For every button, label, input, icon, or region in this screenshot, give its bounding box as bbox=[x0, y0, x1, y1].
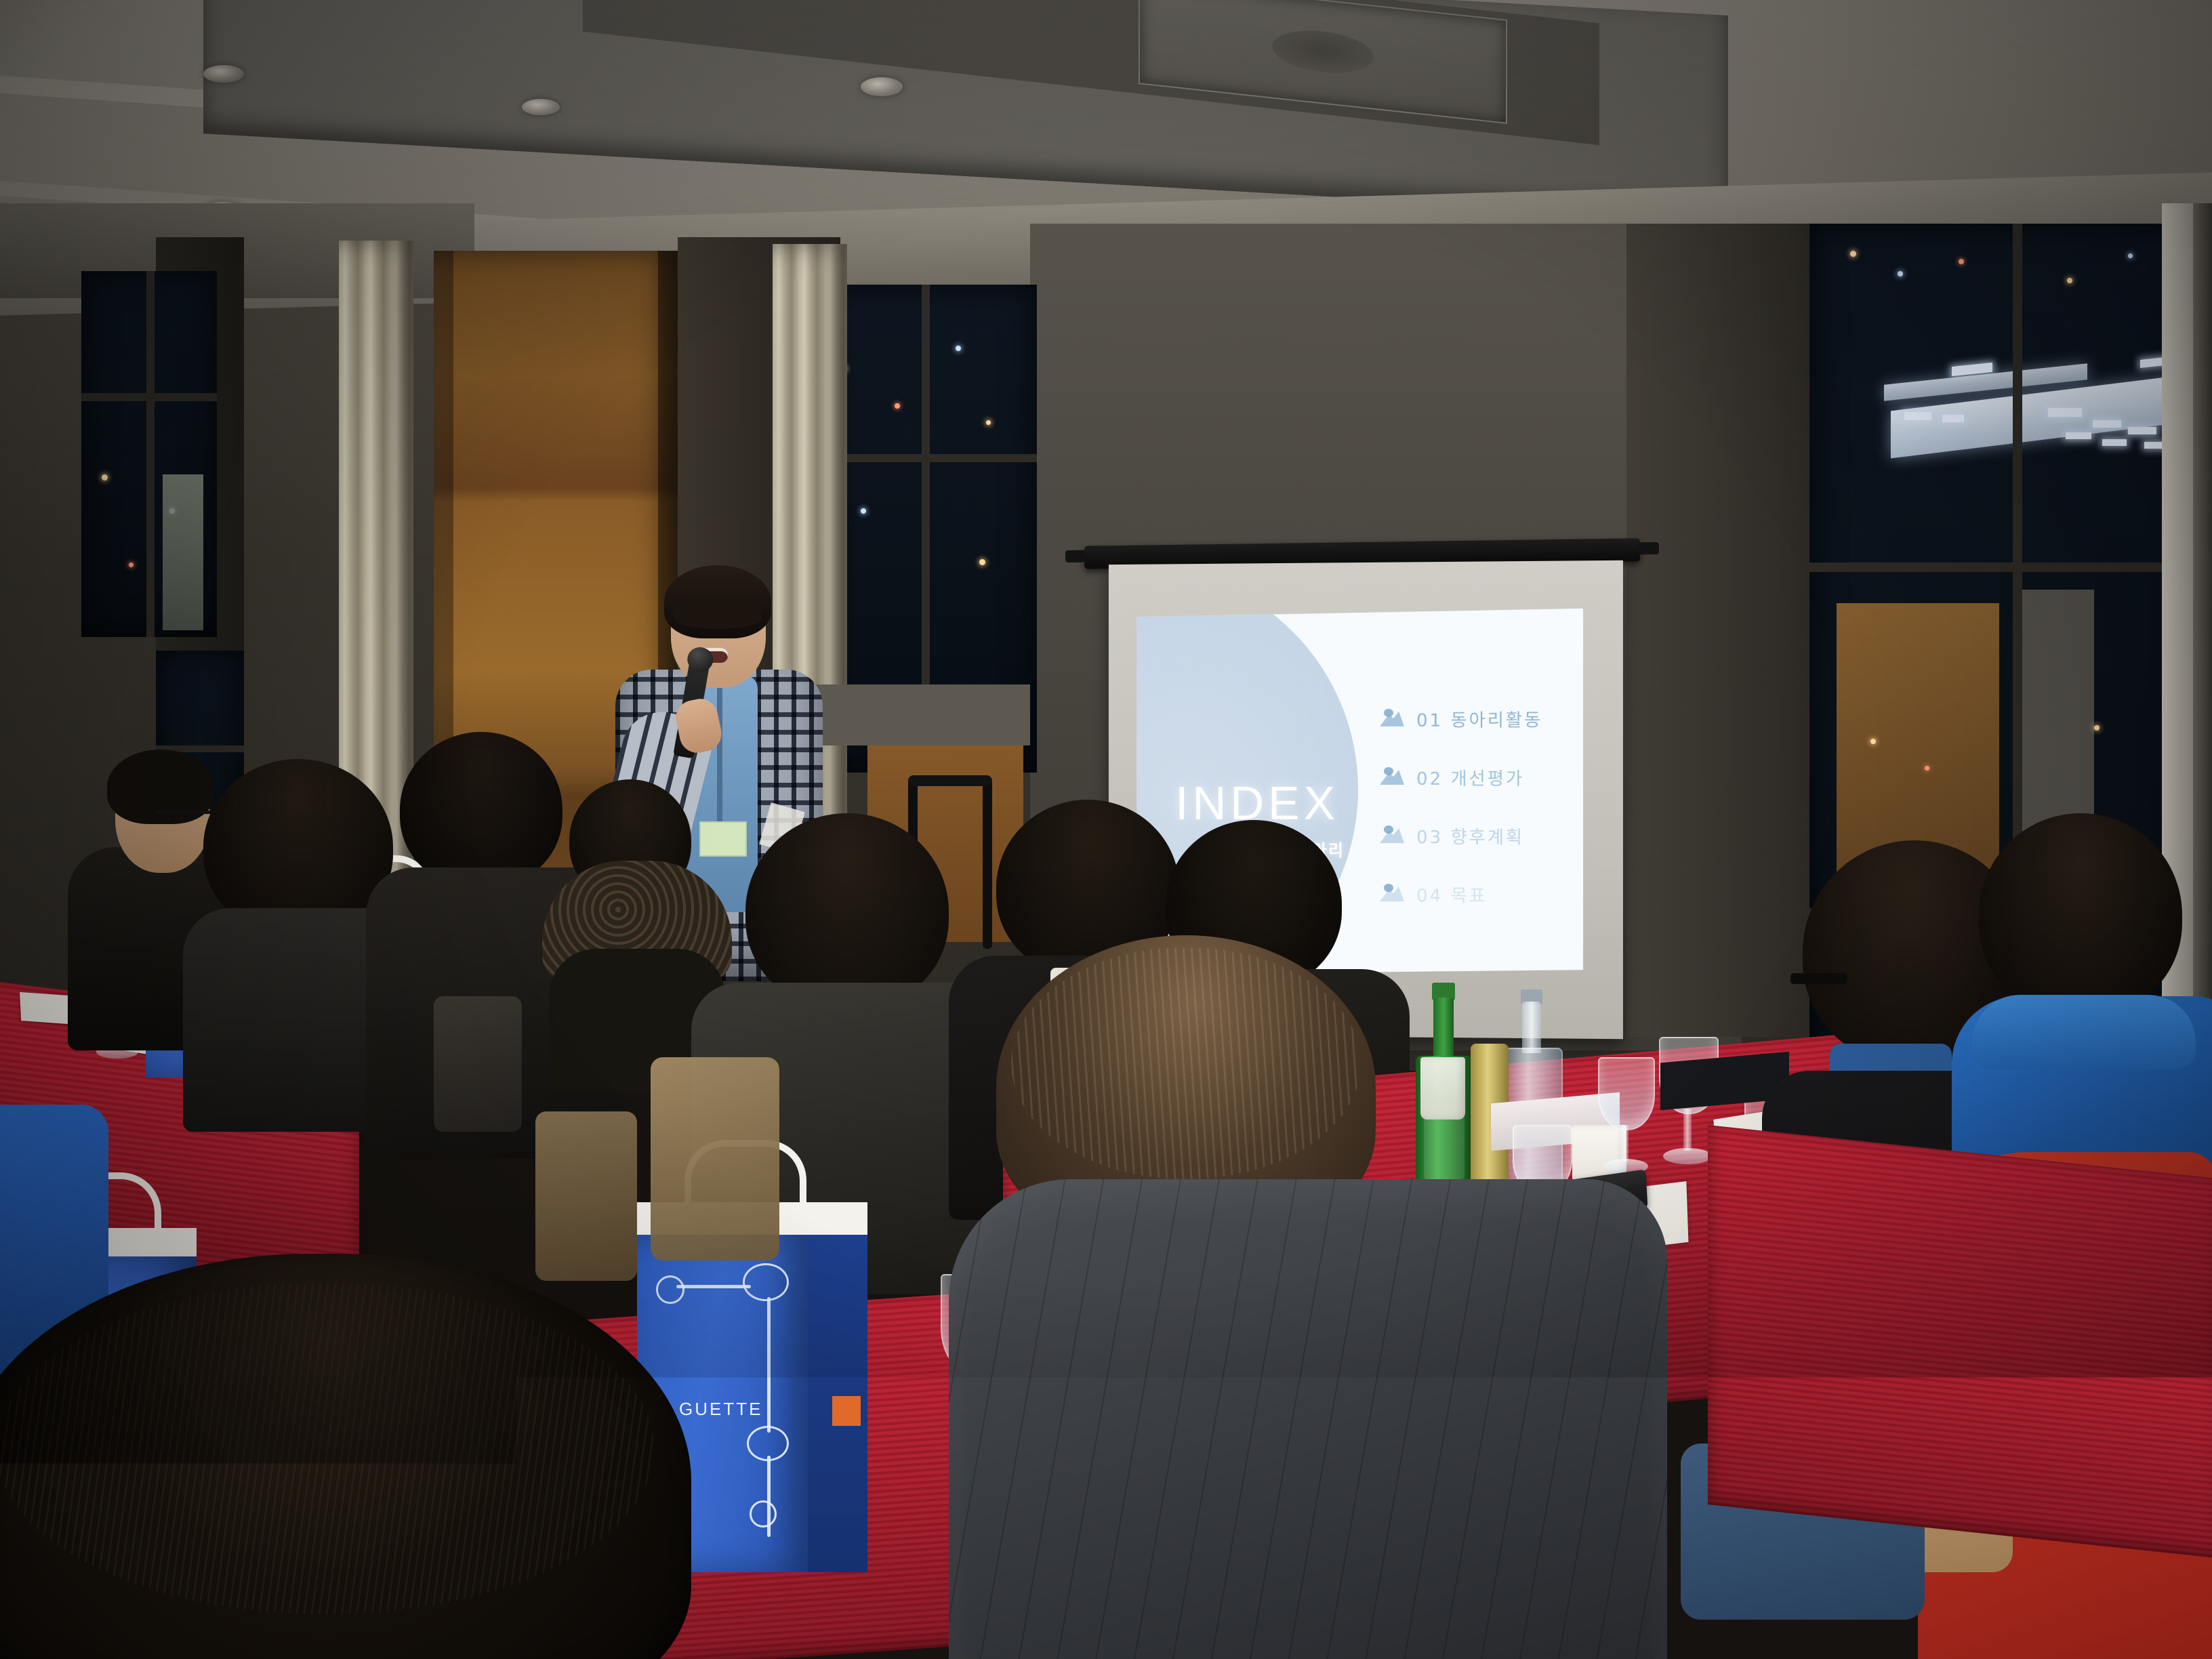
ceiling-recess bbox=[203, 0, 1728, 219]
chair-back bbox=[535, 1111, 637, 1281]
downlight-icon bbox=[522, 99, 560, 115]
slide-bullet-text: 03 향후계획 bbox=[1416, 823, 1524, 848]
foreground-puffer-jacket bbox=[949, 1179, 1667, 1659]
slide-bullet-text: 04 목표 bbox=[1416, 882, 1488, 907]
chair-back bbox=[434, 996, 522, 1132]
slide-bullet-text: 02 개선평가 bbox=[1416, 764, 1524, 790]
photo-scene: INDEX 99분 토론동아리 01 동아리활동 02 개선평가 03 향후계획 bbox=[0, 0, 2212, 1659]
attendee-head bbox=[1979, 813, 2182, 1017]
downlight-icon bbox=[203, 65, 244, 83]
window-glow bbox=[163, 474, 203, 630]
slide-bullet-item: 02 개선평가 bbox=[1378, 747, 1583, 806]
attendee-head bbox=[745, 813, 949, 1010]
gift-bag-side-accent bbox=[832, 1396, 861, 1426]
eyeglasses-icon bbox=[1790, 973, 1847, 984]
foreground-head-left bbox=[0, 1254, 691, 1659]
table-far-right bbox=[1708, 1125, 2212, 1559]
suitcase-handle-bar bbox=[908, 775, 992, 786]
mountain-icon bbox=[1378, 709, 1407, 729]
presenter-hair bbox=[664, 565, 771, 638]
mountain-icon bbox=[1378, 767, 1407, 787]
slide-bullet-item: 01 동아리활동 bbox=[1378, 689, 1583, 748]
window-left bbox=[81, 271, 217, 637]
slide-bullet-text: 01 동아리활동 bbox=[1416, 706, 1542, 732]
paper-cup bbox=[1420, 1057, 1465, 1120]
jacket-collar bbox=[1972, 995, 2196, 1069]
downlight-icon bbox=[861, 77, 903, 96]
chair-back bbox=[651, 1057, 779, 1261]
wine-glass bbox=[1593, 1057, 1658, 1186]
gift-bag-side bbox=[808, 1235, 867, 1572]
attendee-head bbox=[400, 732, 562, 888]
gift-bag-brand-text: GUETTE bbox=[679, 1399, 762, 1420]
